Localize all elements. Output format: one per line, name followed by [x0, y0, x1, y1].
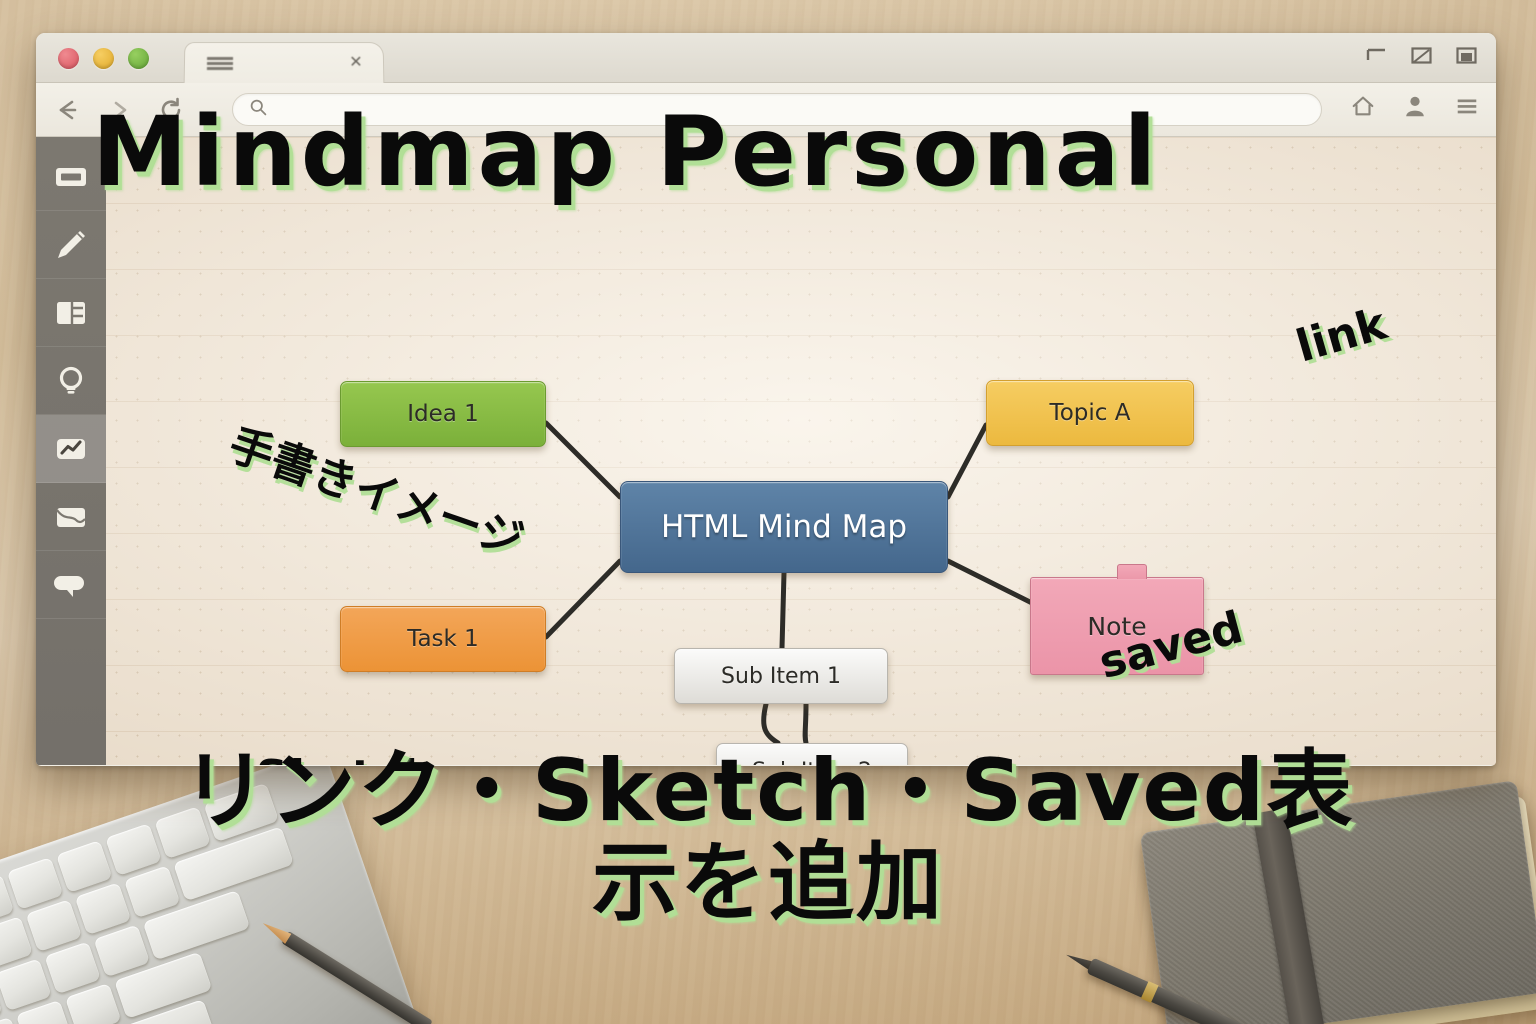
- profile-icon[interactable]: [1402, 93, 1428, 124]
- mindmap-node-center[interactable]: HTML Mind Map: [620, 481, 948, 573]
- sidebar-item-chart[interactable]: [36, 415, 106, 483]
- tag-icon: [53, 567, 89, 603]
- mindmap-node-task1[interactable]: Task 1: [340, 606, 546, 672]
- window-controls: [1365, 46, 1478, 65]
- edge-center-topicA: [948, 425, 986, 497]
- close-window-button[interactable]: [58, 48, 79, 69]
- hamburger-menu-icon[interactable]: [1454, 93, 1480, 124]
- desk-background: ✕: [0, 0, 1536, 1024]
- sidebar-item-tag[interactable]: [36, 551, 106, 619]
- sketch-icon: [53, 499, 89, 535]
- edge-center-idea1: [546, 423, 620, 497]
- bottom-caption: リンク・Sketch・Saved表 示を追加: [0, 748, 1536, 926]
- sidebar-item-sketch[interactable]: [36, 483, 106, 551]
- layout-icon: [53, 295, 89, 331]
- app-body: Idea 1 Topic A Task 1 HTML Mind Map Note: [36, 137, 1496, 765]
- sidebar-item-layout[interactable]: [36, 279, 106, 347]
- bottom-caption-line-2: 示を追加: [0, 840, 1536, 926]
- traffic-lights: [58, 48, 149, 69]
- minimize-button[interactable]: [1365, 46, 1388, 65]
- mindmap: Idea 1 Topic A Task 1 HTML Mind Map Note: [106, 137, 1496, 765]
- browser-tab[interactable]: ✕: [184, 42, 385, 83]
- browser-titlebar: ✕: [36, 33, 1496, 83]
- keyboard-key: [0, 958, 52, 1011]
- keyboard-key: [44, 941, 101, 994]
- sidebar-item-lightbulb[interactable]: [36, 347, 106, 415]
- mindmap-canvas[interactable]: Idea 1 Topic A Task 1 HTML Mind Map Note: [106, 137, 1496, 765]
- node-label: Idea 1: [407, 401, 479, 427]
- node-label: Task 1: [407, 626, 479, 652]
- bottom-caption-line-1: リンク・Sketch・Saved表: [182, 741, 1355, 841]
- mindmap-node-topicA[interactable]: Topic A: [986, 380, 1194, 446]
- tab-close-icon[interactable]: ✕: [347, 53, 365, 73]
- sidebar-item-pencil[interactable]: [36, 211, 106, 279]
- zoom-window-button[interactable]: [128, 48, 149, 69]
- mindmap-node-idea1[interactable]: Idea 1: [340, 381, 546, 447]
- keyboard-key: [94, 925, 151, 978]
- maximize-button[interactable]: [1410, 46, 1433, 65]
- pencil-icon: [53, 227, 89, 263]
- toolbar-right-group: [1350, 93, 1480, 124]
- edge-sub1-sub2-a: [764, 704, 778, 743]
- card-icon: [53, 159, 89, 195]
- tool-sidebar: [36, 137, 106, 765]
- mindmap-node-sub-item-1[interactable]: Sub Item 1: [674, 648, 888, 704]
- restore-button[interactable]: [1455, 46, 1478, 65]
- edge-center-task1: [546, 561, 620, 637]
- lightbulb-icon: [53, 363, 89, 399]
- node-label: Topic A: [1050, 400, 1131, 426]
- minimize-window-button[interactable]: [93, 48, 114, 69]
- title-caption: Mindmap Personal: [92, 96, 1160, 208]
- note-tab-icon: [1117, 564, 1147, 579]
- chart-icon: [53, 431, 89, 467]
- tab-favicon-icon: [207, 57, 233, 70]
- node-label: Sub Item 1: [721, 664, 841, 689]
- home-icon[interactable]: [1350, 93, 1376, 124]
- node-label: HTML Mind Map: [661, 509, 907, 545]
- back-button[interactable]: [46, 93, 88, 127]
- edge-sub1-sub2-b: [805, 704, 806, 743]
- keyboard-key: [65, 983, 122, 1024]
- edge-center-sub1: [782, 573, 784, 648]
